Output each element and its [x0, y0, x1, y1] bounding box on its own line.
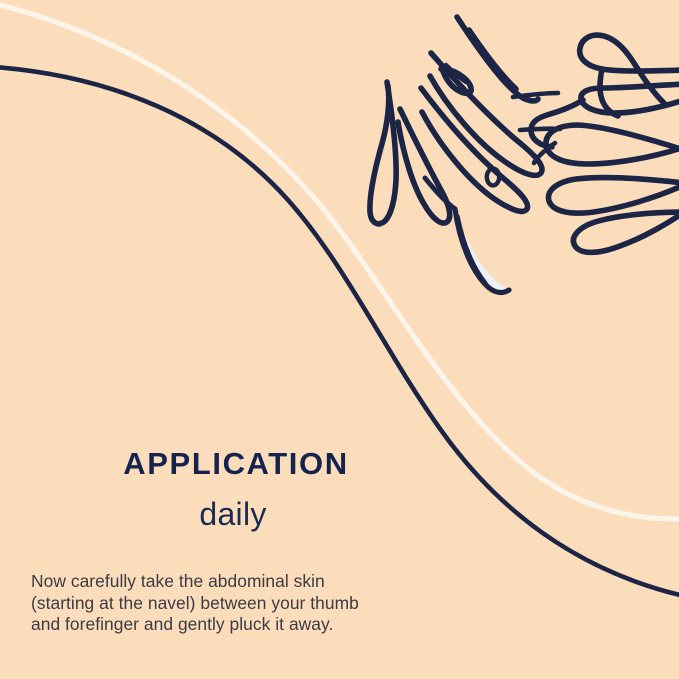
instruction-line-2: (starting at the navel) between your thu… [31, 593, 451, 615]
instruction-card: APPLICATION daily Now carefully take the… [0, 0, 679, 679]
instruction-text: Now carefully take the abdominal skin (s… [31, 571, 451, 636]
instruction-line-3: and forefinger and gently pluck it away. [31, 614, 451, 636]
instruction-line-1: Now carefully take the abdominal skin [31, 571, 451, 593]
text-layer: APPLICATION daily Now carefully take the… [0, 0, 679, 679]
frequency-label: daily [0, 498, 466, 530]
page-title: APPLICATION [0, 448, 472, 479]
